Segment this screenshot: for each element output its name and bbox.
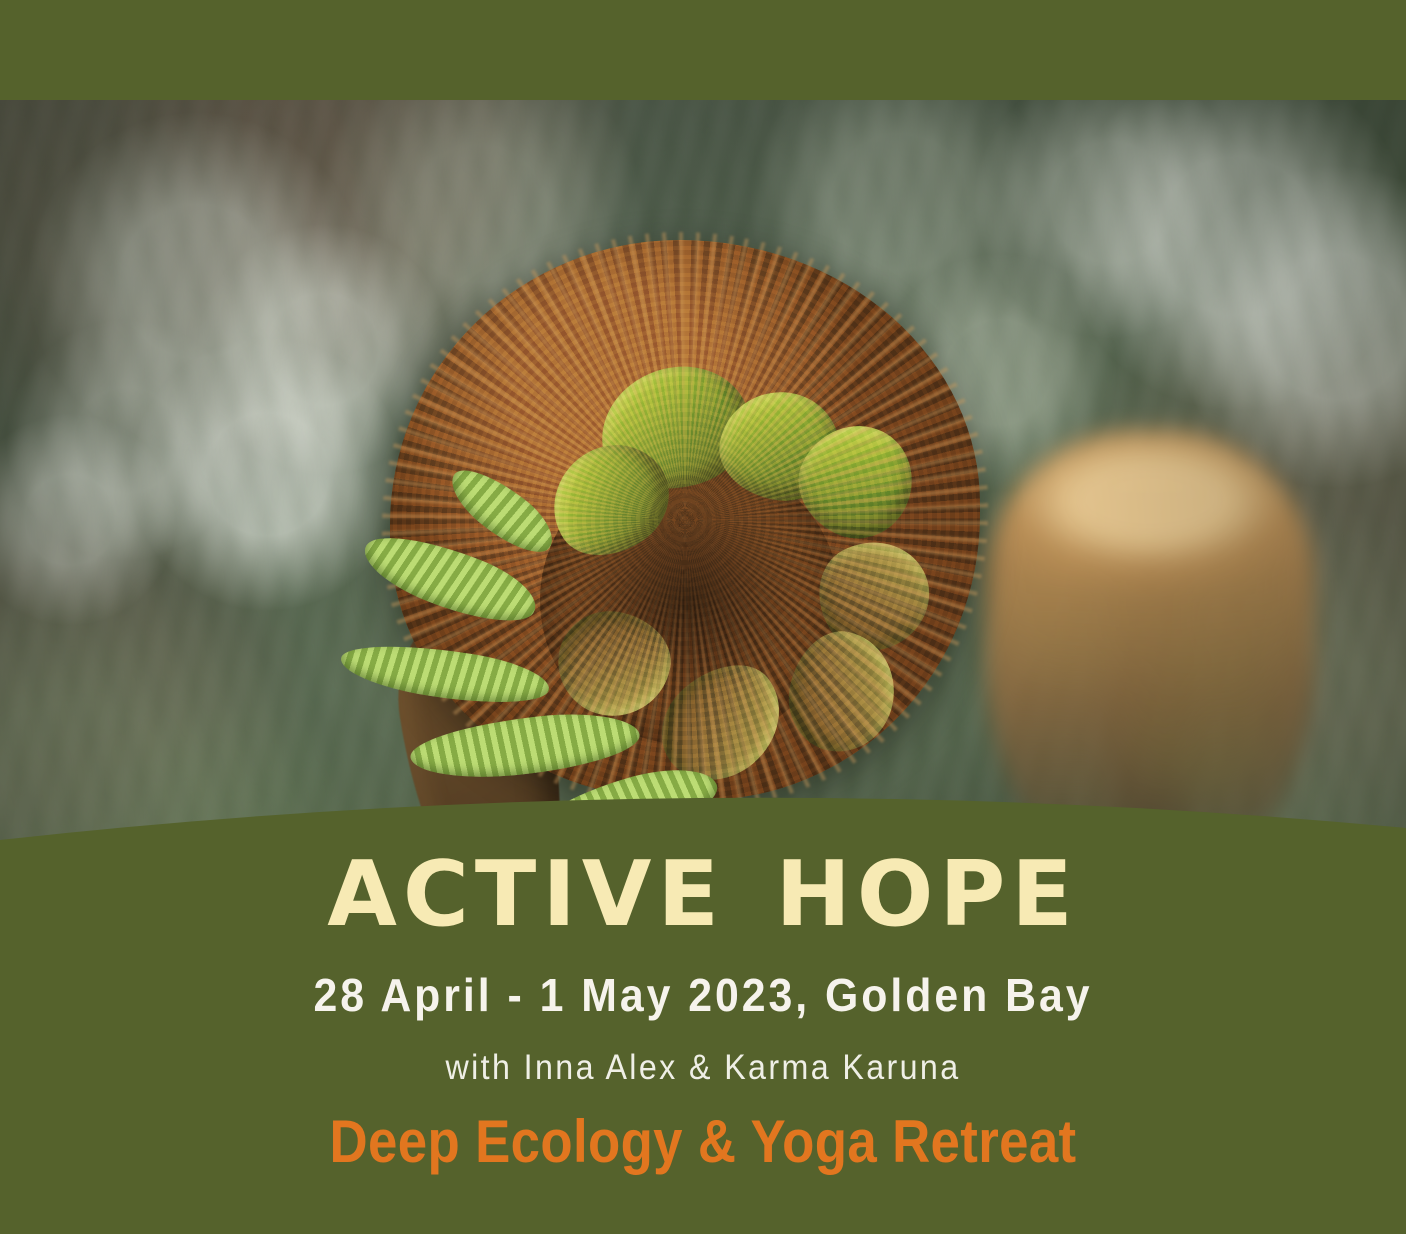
page-title: Active Hope bbox=[0, 818, 1406, 946]
koru-frond bbox=[441, 456, 564, 566]
koru-scale-fringe bbox=[382, 232, 988, 808]
koru-bud bbox=[800, 521, 948, 668]
koru-bud bbox=[588, 352, 763, 505]
top-green-bar bbox=[0, 0, 1406, 100]
koru-scale-texture bbox=[390, 240, 980, 800]
koru-core bbox=[540, 455, 840, 745]
koru-frond bbox=[351, 520, 549, 637]
facilitators-line: with Inna Alex & Karma Karuna bbox=[56, 1048, 1350, 1088]
koru-head bbox=[390, 240, 980, 800]
koru-bud bbox=[550, 603, 678, 725]
date-location-line: 28 April - 1 May 2023, Golden Bay bbox=[49, 968, 1357, 1022]
koru-bud bbox=[713, 384, 847, 508]
poster-text-block: Active Hope 28 April - 1 May 2023, Golde… bbox=[0, 770, 1406, 1234]
koru-bud bbox=[531, 423, 689, 576]
tagline: Deep Ecology & Yoga Retreat bbox=[84, 1107, 1321, 1176]
koru-bud bbox=[781, 406, 931, 556]
koru-frond bbox=[335, 634, 555, 713]
poster-canvas: Active Hope 28 April - 1 May 2023, Golde… bbox=[0, 0, 1406, 1234]
koru-bud bbox=[779, 622, 906, 761]
